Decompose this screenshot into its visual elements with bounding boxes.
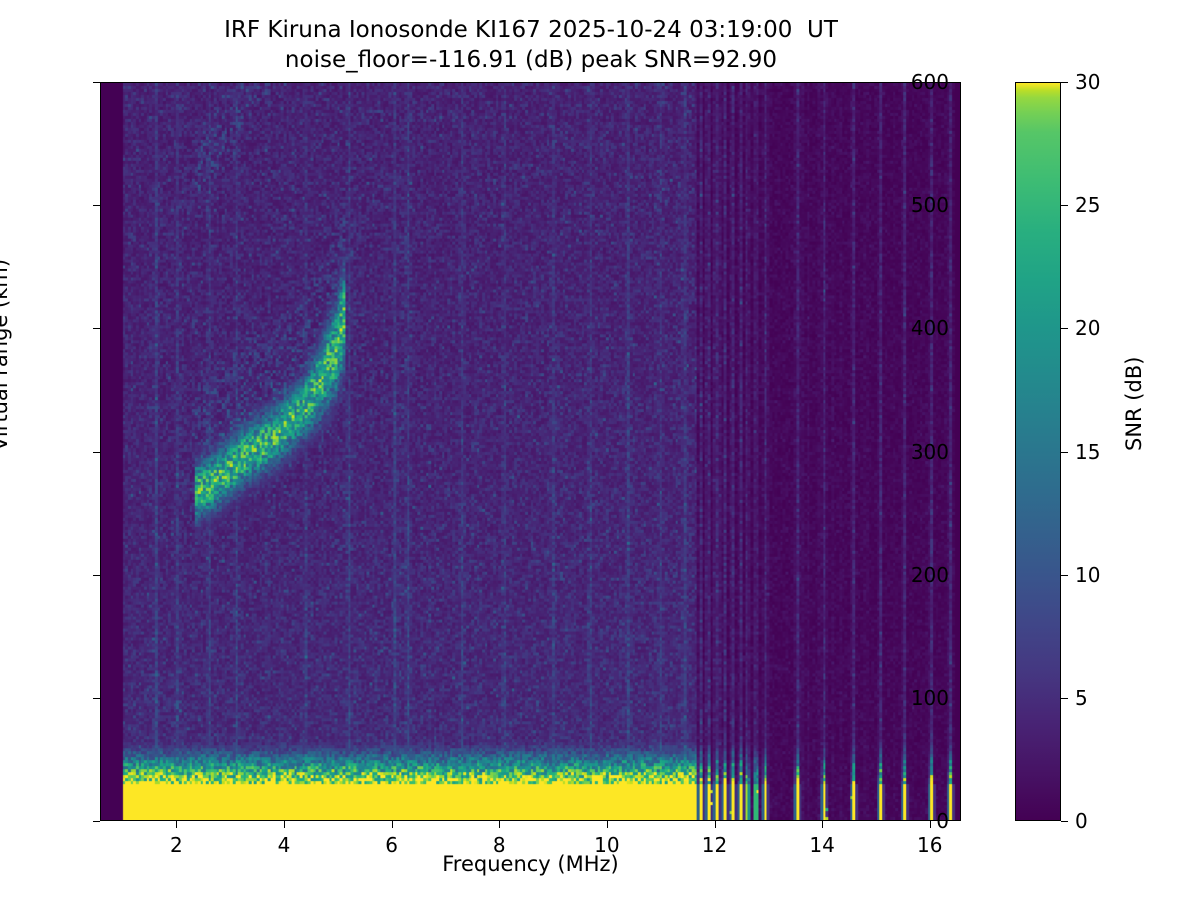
x-tick-mark bbox=[284, 821, 285, 828]
title-line-1: IRF Kiruna Ionosonde KI167 2025-10-24 03… bbox=[100, 16, 962, 46]
colorbar-tick-label: 15 bbox=[1075, 440, 1100, 464]
x-tick-mark bbox=[822, 821, 823, 828]
colorbar-tick-mark bbox=[1061, 575, 1068, 576]
y-axis-label: Virtual range (km) bbox=[0, 259, 12, 451]
colorbar-tick-mark bbox=[1061, 452, 1068, 453]
title-line-2: noise_floor=-116.91 (dB) peak SNR=92.90 bbox=[100, 46, 962, 76]
plot-axes[interactable] bbox=[100, 82, 961, 821]
colorbar-tick-label: 20 bbox=[1075, 316, 1100, 340]
colorbar[interactable] bbox=[1015, 82, 1061, 821]
x-tick-mark bbox=[607, 821, 608, 828]
colorbar-tick-label: 30 bbox=[1075, 70, 1100, 94]
y-tick-mark bbox=[93, 575, 100, 576]
colorbar-tick-mark bbox=[1061, 328, 1068, 329]
colorbar-tick-label: 10 bbox=[1075, 563, 1100, 587]
colorbar-label: SNR (dB) bbox=[1122, 357, 1146, 451]
colorbar-tick-mark bbox=[1061, 821, 1068, 822]
colorbar-tick-mark bbox=[1061, 82, 1068, 83]
colorbar-tick-mark bbox=[1061, 205, 1068, 206]
x-tick-mark bbox=[499, 821, 500, 828]
x-tick-mark bbox=[715, 821, 716, 828]
ionogram-figure: IRF Kiruna Ionosonde KI167 2025-10-24 03… bbox=[0, 0, 1200, 900]
colorbar-tick-label: 5 bbox=[1075, 686, 1088, 710]
y-tick-mark bbox=[93, 821, 100, 822]
colorbar-tick-label: 25 bbox=[1075, 193, 1100, 217]
ionogram-heatmap[interactable] bbox=[101, 83, 960, 820]
y-tick-mark bbox=[93, 205, 100, 206]
plot-title: IRF Kiruna Ionosonde KI167 2025-10-24 03… bbox=[100, 16, 962, 76]
y-tick-mark bbox=[93, 452, 100, 453]
colorbar-tick-label: 0 bbox=[1075, 809, 1088, 833]
x-tick-mark bbox=[176, 821, 177, 828]
x-tick-mark bbox=[930, 821, 931, 828]
colorbar-tick-mark bbox=[1061, 698, 1068, 699]
y-tick-mark bbox=[93, 82, 100, 83]
y-tick-mark bbox=[93, 698, 100, 699]
y-tick-mark bbox=[93, 328, 100, 329]
x-axis-label: Frequency (MHz) bbox=[100, 852, 961, 876]
x-tick-mark bbox=[392, 821, 393, 828]
